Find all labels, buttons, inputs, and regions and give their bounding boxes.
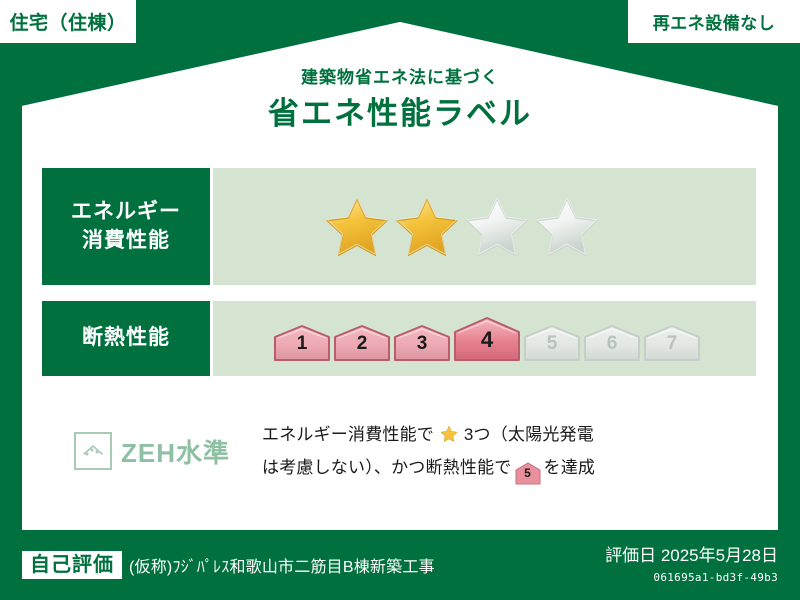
insulation-grade-number: 2 [357, 334, 368, 362]
insulation-grade-number: 1 [297, 334, 308, 362]
title-block: 建築物省エネ法に基づく 省エネ性能ラベル [0, 68, 800, 133]
insulation-performance-label-box: 断熱性能 [42, 301, 210, 376]
insulation-performance-body: 1234567 [213, 301, 756, 376]
document-id: 061695a1-bd3f-49b3 [605, 571, 778, 584]
energy-performance-row: エネルギー 消費性能 [42, 168, 756, 285]
zeh-mark: ZEH水準 [42, 432, 262, 470]
zeh-desc-line1-post: 3つ（太陽光発電 [464, 425, 594, 444]
energy-label-line2: 消費性能 [82, 227, 170, 255]
footer-bar: 自己評価 (仮称)ﾌｼﾞﾊﾟﾚｽ和歌山市二筋目B棟新築工事 評価日 2025年5… [0, 530, 800, 600]
building-type-badge: 住宅（住棟） [0, 0, 136, 43]
footer-right: 評価日 2025年5月28日 061695a1-bd3f-49b3 [605, 546, 778, 583]
star-icon-empty [464, 195, 530, 259]
insulation-grade-2: 2 [333, 324, 391, 362]
insulation-grade-number: 4 [481, 329, 493, 362]
zeh-standard-block: ZEH水準 エネルギー消費性能で 3つ（太陽光発電 は考慮しない）、かつ断熱性能… [42, 420, 756, 483]
insulation-grade-7: 7 [643, 324, 701, 362]
insulation-grade-number: 3 [417, 334, 428, 362]
footer-left: 自己評価 (仮称)ﾌｼﾞﾊﾟﾚｽ和歌山市二筋目B棟新築工事 [22, 551, 435, 579]
zeh-mark-label: ZEH水準 [121, 433, 230, 470]
insulation-grade-5: 5 [523, 324, 581, 362]
zeh-desc-line2-pre: は考慮しない）、かつ断熱性能で [262, 458, 512, 477]
page-title: 省エネ性能ラベル [0, 95, 800, 132]
insulation-performance-row: 断熱性能 1234567 [42, 301, 756, 376]
title-subtitle: 建築物省エネ法に基づく [0, 68, 800, 88]
insulation-grade-number: 7 [667, 334, 678, 362]
energy-performance-body [213, 168, 756, 285]
energy-performance-label: 住宅（住棟） 再エネ設備なし 建築物省エネ法に基づく 省エネ性能ラベル エネルギ… [0, 0, 800, 600]
energy-label-line1: エネルギー [71, 198, 181, 226]
insulation-grade-scale: 1234567 [273, 316, 701, 362]
house-badge-icon: 5 [515, 462, 541, 481]
insulation-label: 断熱性能 [82, 324, 170, 352]
zeh-house-icon [74, 432, 112, 470]
zeh-description: エネルギー消費性能で 3つ（太陽光発電 は考慮しない）、かつ断熱性能で 5 を達… [262, 420, 756, 483]
evaluation-date: 評価日 2025年5月28日 [605, 546, 778, 566]
zeh-desc-grade-number: 5 [515, 462, 541, 485]
renewable-energy-badge: 再エネ設備なし [628, 0, 800, 43]
energy-performance-label-box: エネルギー 消費性能 [42, 168, 210, 285]
insulation-grade-number: 6 [607, 334, 618, 362]
star-icon-filled [394, 195, 460, 259]
insulation-grade-number: 5 [547, 334, 558, 362]
insulation-grade-4: 4 [453, 316, 521, 362]
insulation-grade-1: 1 [273, 324, 331, 362]
star-rating [324, 195, 600, 259]
star-icon-empty [534, 195, 600, 259]
insulation-grade-3: 3 [393, 324, 451, 362]
evaluation-type-badge: 自己評価 [22, 551, 122, 579]
star-icon [435, 428, 463, 447]
zeh-desc-line1-pre: エネルギー消費性能で [262, 425, 434, 444]
building-name: (仮称)ﾌｼﾞﾊﾟﾚｽ和歌山市二筋目B棟新築工事 [129, 553, 435, 577]
zeh-desc-line2-post: を達成 [544, 458, 596, 477]
insulation-grade-6: 6 [583, 324, 641, 362]
star-icon-filled [324, 195, 390, 259]
